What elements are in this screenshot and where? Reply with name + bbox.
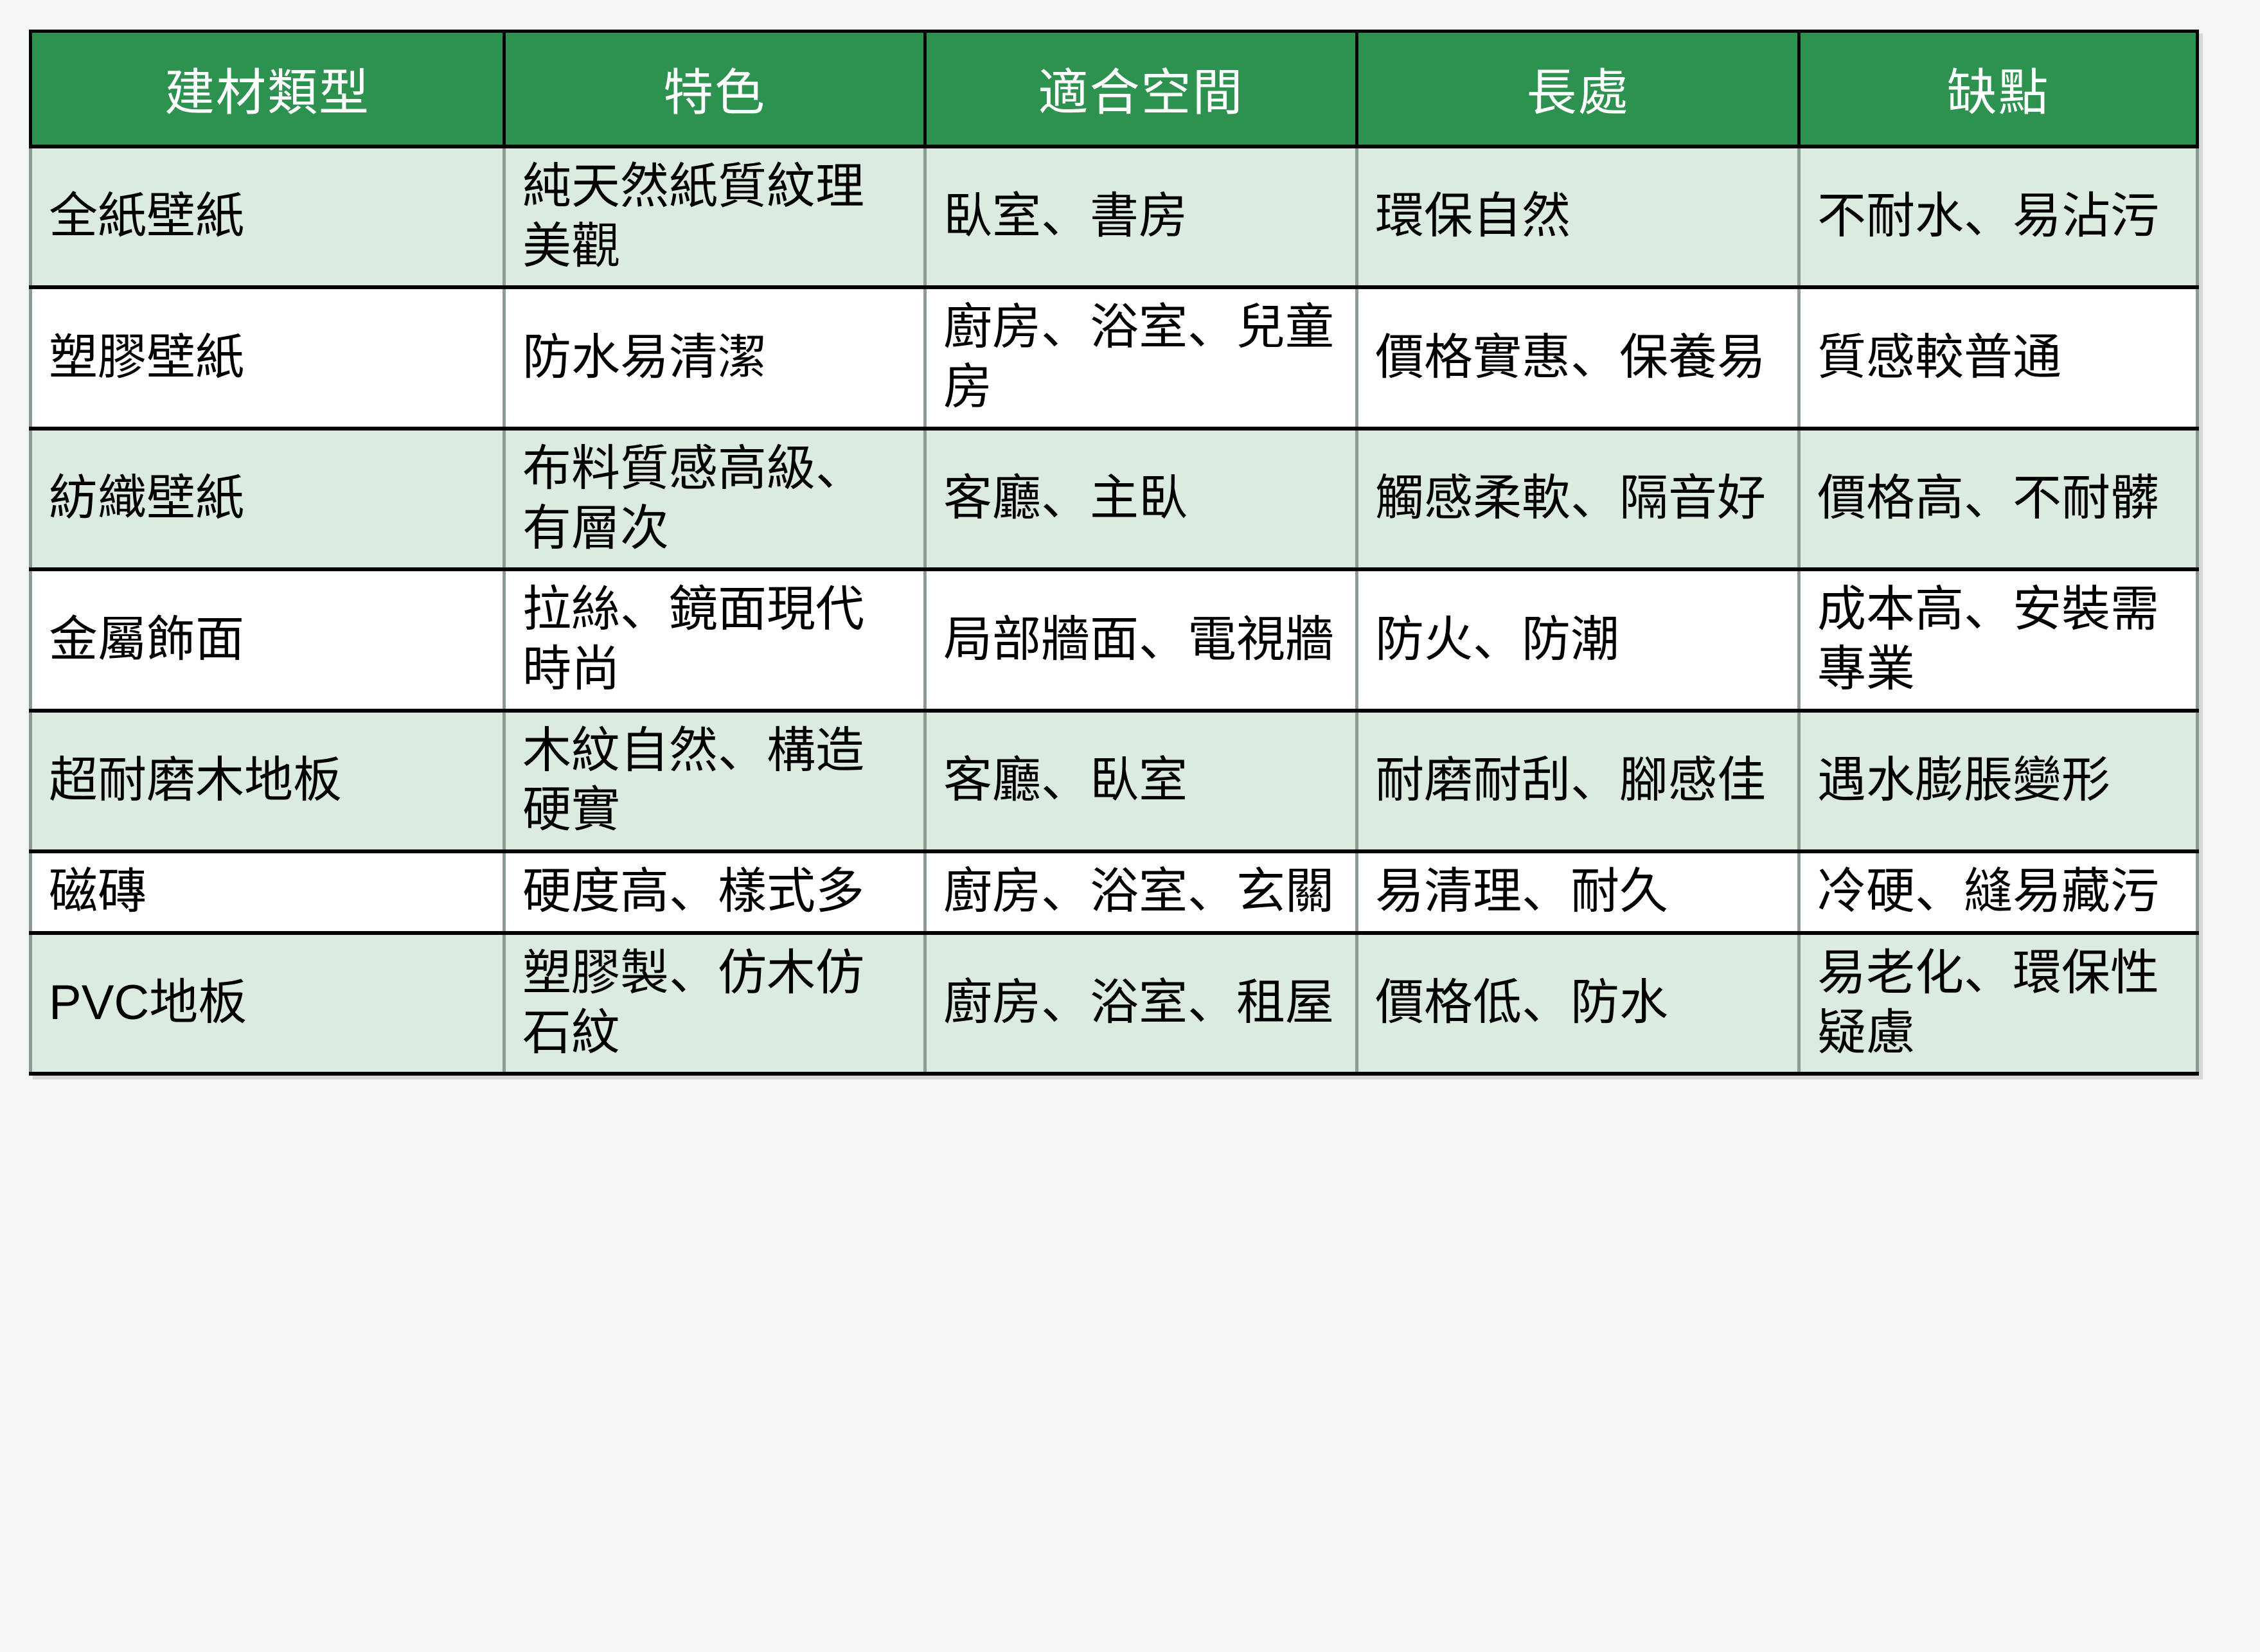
table-row: 金屬飾面 拉絲、鏡面現代時尚 局部牆面、電視牆 防火、防潮 成本高、安裝需專業 (31, 569, 2198, 710)
cell-material-type: 磁磚 (31, 851, 504, 933)
cell-material-space: 廚房、浴室、玄關 (925, 851, 1357, 933)
table-row: 磁磚 硬度高、樣式多 廚房、浴室、玄關 易清理、耐久 冷硬、縫易藏污 (31, 851, 2198, 933)
cell-material-con: 價格高、不耐髒 (1799, 429, 2198, 569)
cell-material-con: 質感較普通 (1799, 287, 2198, 428)
cell-material-pro: 耐磨耐刮、腳感佳 (1357, 711, 1799, 851)
column-header-type: 建材類型 (31, 31, 504, 147)
column-header-feature: 特色 (504, 31, 925, 147)
column-header-con: 缺點 (1799, 31, 2198, 147)
cell-material-feature: 拉絲、鏡面現代時尚 (504, 569, 925, 710)
cell-material-feature: 硬度高、樣式多 (504, 851, 925, 933)
table-row: 紡織壁紙 布料質感高級、有層次 客廳、主臥 觸感柔軟、隔音好 價格高、不耐髒 (31, 429, 2198, 569)
cell-material-space: 廚房、浴室、兒童房 (925, 287, 1357, 428)
cell-material-type: 全紙壁紙 (31, 147, 504, 287)
building-material-comparison-table: 建材類型 特色 適合空間 長處 缺點 全紙壁紙 純天然紙質紋理美觀 臥室、書房 … (29, 30, 2199, 1076)
cell-material-feature: 純天然紙質紋理美觀 (504, 147, 925, 287)
cell-material-type: 超耐磨木地板 (31, 711, 504, 851)
header-row: 建材類型 特色 適合空間 長處 缺點 (31, 31, 2198, 147)
cell-material-pro: 易清理、耐久 (1357, 851, 1799, 933)
table-body: 全紙壁紙 純天然紙質紋理美觀 臥室、書房 環保自然 不耐水、易沾污 塑膠壁紙 防… (31, 147, 2198, 1074)
column-header-space: 適合空間 (925, 31, 1357, 147)
table-row: 超耐磨木地板 木紋自然、構造硬實 客廳、臥室 耐磨耐刮、腳感佳 遇水膨脹變形 (31, 711, 2198, 851)
cell-material-space: 客廳、臥室 (925, 711, 1357, 851)
cell-material-con: 成本高、安裝需專業 (1799, 569, 2198, 710)
cell-material-pro: 環保自然 (1357, 147, 1799, 287)
table-row: 塑膠壁紙 防水易清潔 廚房、浴室、兒童房 價格實惠、保養易 質感較普通 (31, 287, 2198, 428)
cell-material-con: 不耐水、易沾污 (1799, 147, 2198, 287)
cell-material-pro: 價格低、防水 (1357, 933, 1799, 1074)
cell-material-space: 臥室、書房 (925, 147, 1357, 287)
cell-material-space: 客廳、主臥 (925, 429, 1357, 569)
cell-material-type: PVC地板 (31, 933, 504, 1074)
cell-material-space: 廚房、浴室、租屋 (925, 933, 1357, 1074)
table-row: 全紙壁紙 純天然紙質紋理美觀 臥室、書房 環保自然 不耐水、易沾污 (31, 147, 2198, 287)
cell-material-type: 紡織壁紙 (31, 429, 504, 569)
cell-material-feature: 防水易清潔 (504, 287, 925, 428)
cell-material-space: 局部牆面、電視牆 (925, 569, 1357, 710)
cell-material-pro: 防火、防潮 (1357, 569, 1799, 710)
cell-material-type: 塑膠壁紙 (31, 287, 504, 428)
cell-material-pro: 觸感柔軟、隔音好 (1357, 429, 1799, 569)
cell-material-pro: 價格實惠、保養易 (1357, 287, 1799, 428)
table-header: 建材類型 特色 適合空間 長處 缺點 (31, 31, 2198, 147)
table-row: PVC地板 塑膠製、仿木仿石紋 廚房、浴室、租屋 價格低、防水 易老化、環保性疑… (31, 933, 2198, 1074)
page-canvas: 建材類型 特色 適合空間 長處 缺點 全紙壁紙 純天然紙質紋理美觀 臥室、書房 … (0, 0, 2260, 1652)
cell-material-con: 易老化、環保性疑慮 (1799, 933, 2198, 1074)
cell-material-feature: 木紋自然、構造硬實 (504, 711, 925, 851)
cell-material-feature: 布料質感高級、有層次 (504, 429, 925, 569)
cell-material-con: 冷硬、縫易藏污 (1799, 851, 2198, 933)
cell-material-type: 金屬飾面 (31, 569, 504, 710)
cell-material-con: 遇水膨脹變形 (1799, 711, 2198, 851)
cell-material-feature: 塑膠製、仿木仿石紋 (504, 933, 925, 1074)
column-header-pro: 長處 (1357, 31, 1799, 147)
